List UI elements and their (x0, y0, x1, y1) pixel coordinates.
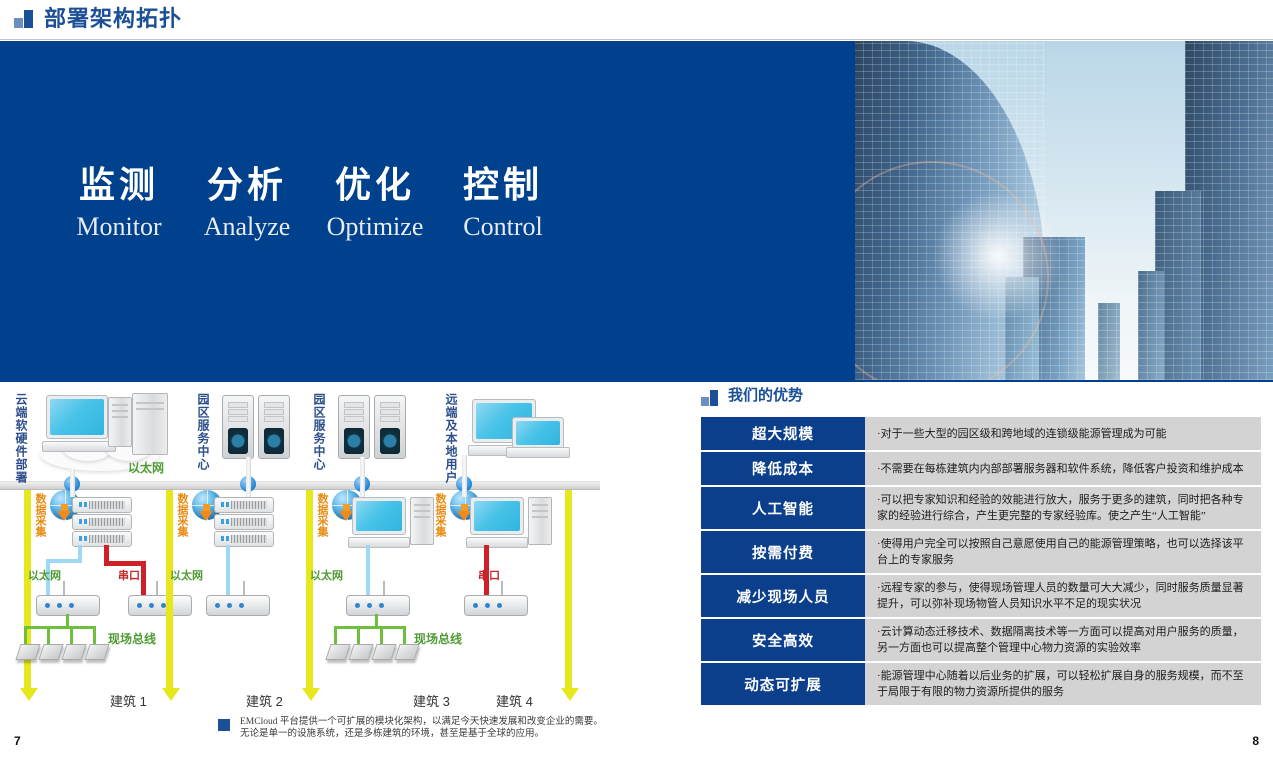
column-label-4: 远端及本地用户 (444, 393, 457, 484)
advantage-key: 按需付费 (701, 531, 865, 573)
sensor-icon (348, 644, 373, 660)
advantage-value: ·能源管理中心随着以后业务的扩展，可以轻松扩展自身的服务规模，而不至于局限于有限… (865, 663, 1261, 705)
router-icon (464, 595, 528, 616)
advantage-key: 超大规模 (701, 417, 865, 450)
column-label-1: 云端软硬件部署 (14, 393, 27, 484)
caption-text: EMCloud 平台提供一个可扩展的模块化架构，以满足今天快速发展和改变企业的需… (240, 716, 608, 740)
table-row: 按需付费 ·使得用户完全可以按照自己意愿使用自己的能源管理策略，也可以选择该平台… (701, 531, 1261, 573)
park-server-icon (258, 395, 290, 459)
serial-label-1: 串口 (118, 567, 140, 583)
router-icon (346, 595, 410, 616)
hero-word-optimize: 优化 Optimize (311, 161, 439, 245)
data-collection-label-3: 数据采集 (316, 493, 328, 537)
deployment-topology-diagram: 云端软硬件部署 以太网 园区服务中心 园区服务中心 远端及本地用户 数据采集 (0, 385, 640, 730)
caption-bullet-icon (218, 719, 230, 731)
advantage-key: 人工智能 (701, 487, 865, 529)
boundary-arrow-4 (561, 688, 579, 701)
boundary-arrow-3 (302, 688, 320, 701)
cloud-monitor-icon (46, 395, 108, 439)
boundary-line-1 (24, 490, 31, 690)
cloud-tower-icon (108, 397, 132, 447)
page-title: 部署架构拓扑 (44, 4, 182, 34)
building-label-4: 建筑 4 (496, 691, 533, 710)
workstation-monitor-icon (470, 497, 524, 535)
ethernet-label-1: 以太网 (28, 567, 61, 583)
park-server-icon (374, 395, 406, 459)
advantage-value: ·对于一些大型的园区级和跨地域的连锁级能源管理成为可能 (865, 417, 1261, 450)
data-collection-label-4: 数据采集 (434, 493, 446, 537)
data-collection-label-1: 数据采集 (34, 493, 46, 537)
boundary-line-4 (565, 490, 572, 690)
router-icon (128, 595, 192, 616)
cloud-keyboard-icon (42, 441, 116, 452)
table-row: 动态可扩展 ·能源管理中心随着以后业务的扩展，可以轻松扩展自身的服务规模，而不至… (701, 663, 1261, 705)
boundary-line-3 (306, 490, 313, 690)
stacked-blocks-icon (701, 390, 721, 406)
page-number-left: 7 (14, 734, 21, 748)
advantages-table: 超大规模 ·对于一些大型的园区级和跨地域的连锁级能源管理成为可能 降低成本 ·不… (701, 415, 1261, 707)
advantage-key: 动态可扩展 (701, 663, 865, 705)
building-label-2: 建筑 2 (246, 691, 283, 710)
advantages-title: 我们的优势 (728, 384, 803, 408)
sensor-icon (371, 644, 396, 660)
table-row: 安全高效 ·云计算动态迁移技术、数据隔离技术等一方面可以提高对用户服务的质量，另… (701, 619, 1261, 661)
column-label-2: 园区服务中心 (196, 393, 209, 471)
skyscrapers-photo (855, 41, 1273, 380)
gateway-rack (214, 497, 274, 513)
page-number-right: 8 (1252, 734, 1259, 748)
sensor-icon (394, 644, 419, 660)
stacked-blocks-icon (14, 10, 36, 28)
workstation-tower-icon (410, 497, 434, 545)
workstation-tower-icon (528, 497, 552, 545)
advantage-value: ·不需要在每栋建筑内内部部署服务器和软件系统，降低客户投资和维护成本 (865, 452, 1261, 485)
backbone-bus (0, 481, 600, 490)
router-icon (206, 595, 270, 616)
advantage-value: ·可以把专家知识和经验的效能进行放大，服务于更多的建筑，同时把各种专家的经验进行… (865, 487, 1261, 529)
advantage-value: ·使得用户完全可以按照自己意愿使用自己的能源管理策略，也可以选择该平台上的专家服… (865, 531, 1261, 573)
table-row: 减少现场人员 ·远程专家的参与，使得现场管理人员的数量可大大减少，同时服务质量显… (701, 575, 1261, 617)
hero-word-analyze: 分析 Analyze (183, 161, 311, 245)
sensor-icon (61, 644, 86, 660)
gateway-rack (72, 514, 132, 530)
table-row: 超大规模 ·对于一些大型的园区级和跨地域的连锁级能源管理成为可能 (701, 417, 1261, 450)
serial-label-4: 串口 (478, 567, 500, 583)
header-divider (0, 39, 1273, 40)
advantage-key: 降低成本 (701, 452, 865, 485)
data-collection-label-2: 数据采集 (176, 493, 188, 537)
sensor-icon (84, 644, 109, 660)
user-laptop-icon (512, 417, 564, 449)
hero-words: 监测 Monitor 分析 Analyze 优化 Optimize 控制 Con… (55, 161, 575, 245)
advantage-key: 安全高效 (701, 619, 865, 661)
slide-header: 部署架构拓扑 (0, 0, 1273, 42)
ethernet-label-2: 以太网 (170, 567, 203, 583)
ethernet-label-main: 以太网 (128, 459, 164, 476)
park-server-icon (222, 395, 254, 459)
user-laptop-base (506, 447, 570, 458)
boundary-line-2 (166, 490, 173, 690)
fieldbus-label-1: 现场总线 (108, 630, 156, 647)
building-label-1: 建筑 1 (110, 691, 147, 710)
advantage-key: 减少现场人员 (701, 575, 865, 617)
gateway-rack (72, 497, 132, 513)
gateway-rack (214, 514, 274, 530)
sensor-icon (15, 644, 40, 660)
table-row: 人工智能 ·可以把专家知识和经验的效能进行放大，服务于更多的建筑，同时把各种专家… (701, 487, 1261, 529)
workstation-keyboard-icon (466, 537, 528, 548)
router-icon (36, 595, 100, 616)
building-label-3: 建筑 3 (413, 691, 450, 710)
column-label-3: 园区服务中心 (312, 393, 325, 471)
boundary-arrow-2 (162, 688, 180, 701)
fieldbus-label-3: 现场总线 (414, 630, 462, 647)
ethernet-label-3: 以太网 (310, 567, 343, 583)
gateway-rack (214, 531, 274, 547)
advantage-value: ·云计算动态迁移技术、数据隔离技术等一方面可以提高对用户服务的质量，另一方面也可… (865, 619, 1261, 661)
cloud-server-icon (132, 393, 168, 455)
advantages-panel: 我们的优势 超大规模 ·对于一些大型的园区级和跨地域的连锁级能源管理成为可能 降… (698, 385, 1273, 730)
sensor-icon (38, 644, 63, 660)
table-row: 降低成本 ·不需要在每栋建筑内内部部署服务器和软件系统，降低客户投资和维护成本 (701, 452, 1261, 485)
advantage-value: ·远程专家的参与，使得现场管理人员的数量可大大减少，同时服务质量显著提升，可以弥… (865, 575, 1261, 617)
hero-word-control: 控制 Control (439, 161, 567, 245)
sensor-icon (325, 644, 350, 660)
hero-word-monitor: 监测 Monitor (55, 161, 183, 245)
workstation-monitor-icon (352, 497, 406, 535)
boundary-arrow-1 (20, 688, 38, 701)
park-server-icon (338, 395, 370, 459)
workstation-keyboard-icon (348, 537, 410, 548)
